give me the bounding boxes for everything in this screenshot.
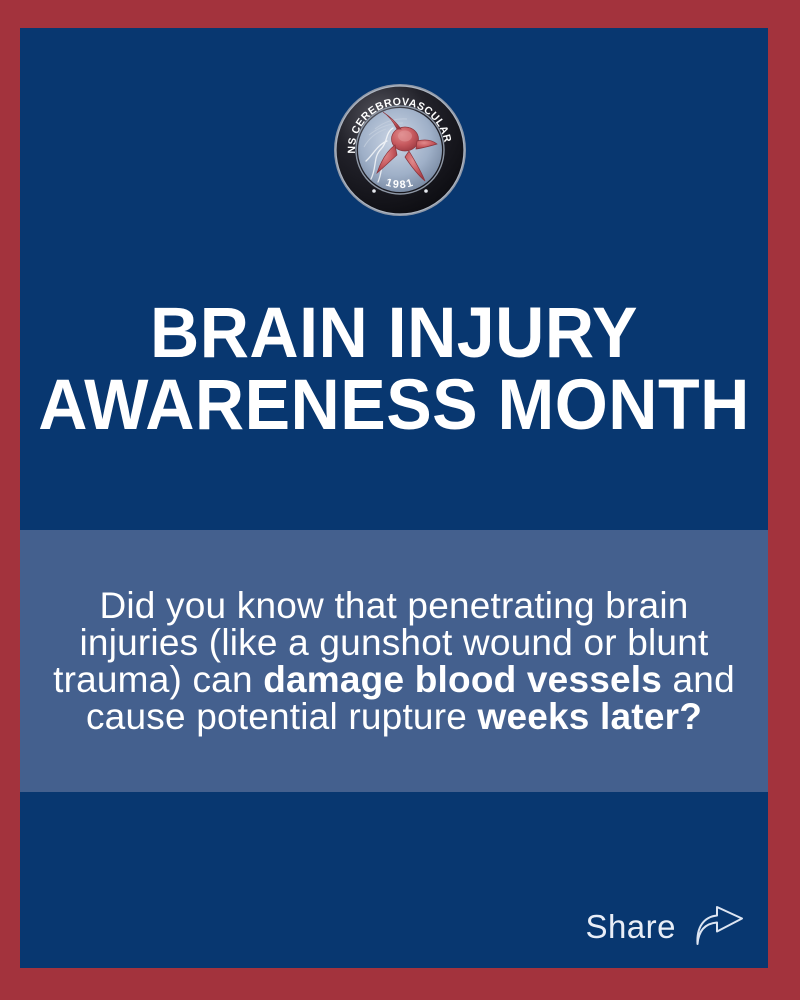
headline-line-2: AWARENESS MONTH: [35, 370, 753, 442]
share-button[interactable]: Share: [585, 904, 746, 948]
seal-dot-left: [372, 189, 376, 193]
poster-panel: AANS CNS CEREBROVASCULAR SECTION 1981 BR…: [20, 28, 768, 968]
share-label: Share: [585, 910, 676, 943]
fact-band: Did you know that penetrating brain inju…: [20, 530, 768, 792]
fact-segment-1: damage blood vessels: [263, 659, 662, 700]
poster-root: AANS CNS CEREBROVASCULAR SECTION 1981 BR…: [0, 0, 800, 1000]
organization-logo: AANS CNS CEREBROVASCULAR SECTION 1981: [333, 83, 467, 217]
page-title: BRAIN INJURY AWARENESS MONTH: [35, 298, 753, 442]
share-arrow-icon[interactable]: [694, 904, 746, 948]
fact-segment-3: weeks later?: [477, 696, 702, 737]
fact-text: Did you know that penetrating brain inju…: [40, 587, 748, 735]
seal-dot-right: [424, 189, 428, 193]
seal-icon: AANS CNS CEREBROVASCULAR SECTION 1981: [333, 83, 467, 217]
headline-line-1: BRAIN INJURY: [35, 298, 753, 370]
